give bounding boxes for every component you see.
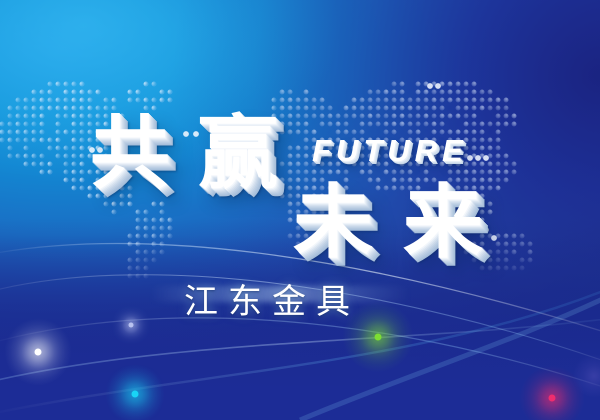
headline-char-wei: 未 [293, 176, 373, 269]
subhead-future: FUTURE [312, 133, 468, 169]
headline-line-1: 共赢 [90, 114, 278, 194]
headline-char-ying: 赢 [198, 114, 278, 194]
brand-name: 江东金具 [184, 274, 360, 323]
headline-char-gong: 共 [90, 114, 170, 194]
headline-char-lai: 来 [403, 176, 483, 269]
promo-banner: 共赢 FUTURE 未来 江东金具 [0, 0, 600, 420]
headline-line-2: 未来 [293, 183, 483, 263]
